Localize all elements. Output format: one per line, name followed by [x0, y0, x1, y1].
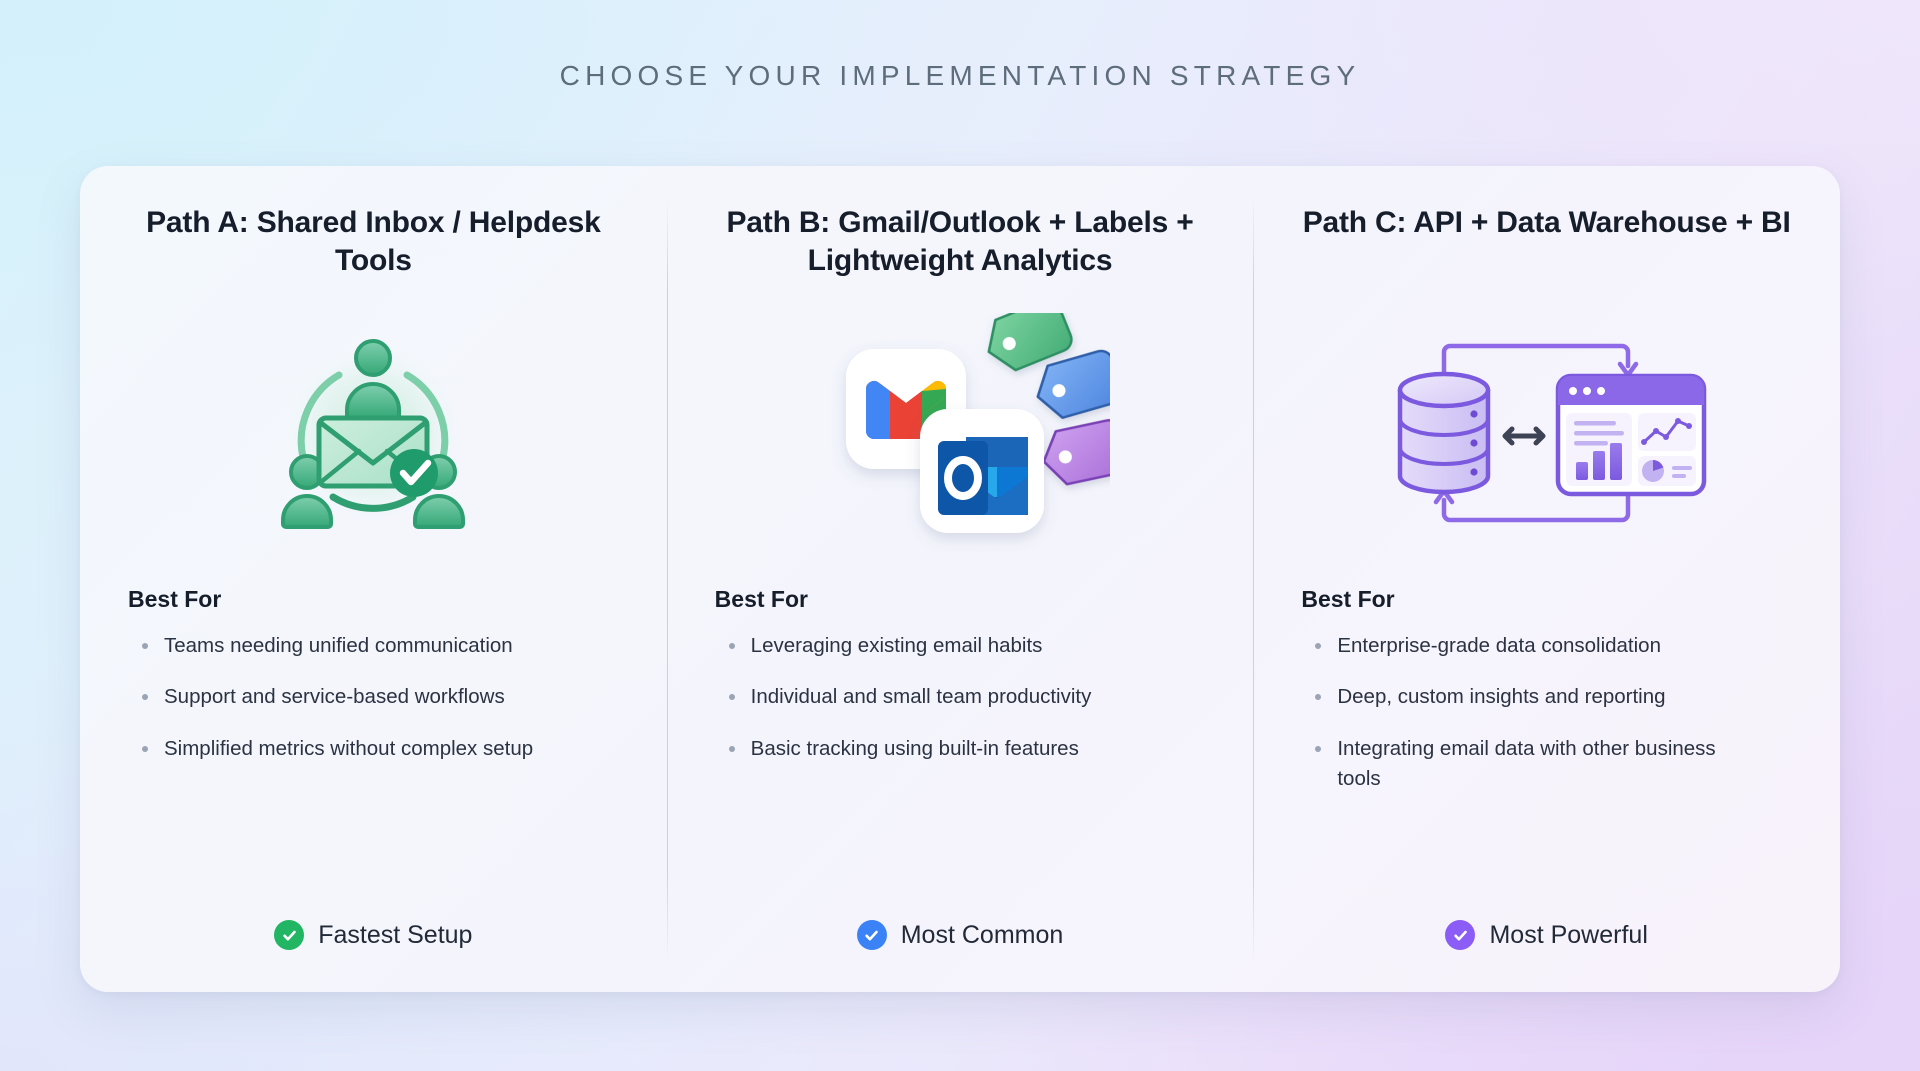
illustration-path-c [1287, 290, 1806, 576]
strategy-comparison-card: Path A: Shared Inbox / Helpdesk Tools [80, 166, 1840, 992]
list-item: Support and service-based workflows [140, 682, 570, 712]
status-badge-path-c: Most Powerful [1287, 920, 1806, 950]
gmail-outlook-labels-icon [810, 313, 1110, 553]
status-badge-label: Most Powerful [1489, 921, 1647, 950]
bullet-list-path-a: Teams needing unified communication Supp… [140, 631, 633, 785]
label-tag-purple-icon [1038, 418, 1110, 488]
list-item: Integrating email data with other busine… [1313, 734, 1743, 795]
column-title-path-b: Path B: Gmail/Outlook + Labels + Lightwe… [701, 204, 1220, 284]
pie-chart-icon [1642, 460, 1664, 482]
illustration-path-a [114, 290, 633, 576]
list-item: Teams needing unified communication [140, 631, 570, 661]
check-circle-icon [274, 920, 304, 950]
best-for-heading-path-b: Best For [715, 586, 1220, 613]
database-cylinder-icon [1400, 374, 1488, 492]
illustration-path-b [701, 290, 1220, 576]
best-for-heading-path-a: Best For [128, 586, 633, 613]
sync-arrow-icon [1505, 429, 1543, 443]
column-path-a: Path A: Shared Inbox / Helpdesk Tools [80, 166, 667, 992]
bullet-list-path-b: Leveraging existing email habits Individ… [727, 631, 1220, 785]
page-title: Choose Your Implementation Strategy [0, 60, 1920, 92]
status-badge-path-a: Fastest Setup [114, 920, 633, 950]
list-item: Leveraging existing email habits [727, 631, 1157, 661]
database-dashboard-icon [1382, 328, 1712, 538]
status-badge-path-b: Most Common [701, 920, 1220, 950]
column-title-path-c: Path C: API + Data Warehouse + BI [1287, 204, 1806, 284]
outlook-logo-icon [920, 409, 1044, 533]
column-path-b: Path B: Gmail/Outlook + Labels + Lightwe… [667, 166, 1254, 992]
list-item: Basic tracking using built-in features [727, 734, 1157, 764]
list-item: Enterprise-grade data consolidation [1313, 631, 1743, 661]
column-path-c: Path C: API + Data Warehouse + BI [1253, 166, 1840, 992]
best-for-heading-path-c: Best For [1301, 586, 1806, 613]
status-badge-label: Fastest Setup [318, 921, 472, 950]
check-badge-icon [390, 449, 438, 497]
check-circle-icon [1445, 920, 1475, 950]
flow-arrow-top-icon [1444, 346, 1628, 374]
check-circle-icon [857, 920, 887, 950]
status-badge-label: Most Common [901, 921, 1064, 950]
list-item: Deep, custom insights and reporting [1313, 682, 1743, 712]
team-shared-inbox-icon [257, 317, 489, 549]
list-item: Simplified metrics without complex setup [140, 734, 570, 764]
column-title-path-a: Path A: Shared Inbox / Helpdesk Tools [114, 204, 633, 284]
bullet-list-path-c: Enterprise-grade data consolidation Deep… [1313, 631, 1806, 815]
list-item: Individual and small team productivity [727, 682, 1157, 712]
bi-dashboard-window-icon [1558, 376, 1704, 494]
